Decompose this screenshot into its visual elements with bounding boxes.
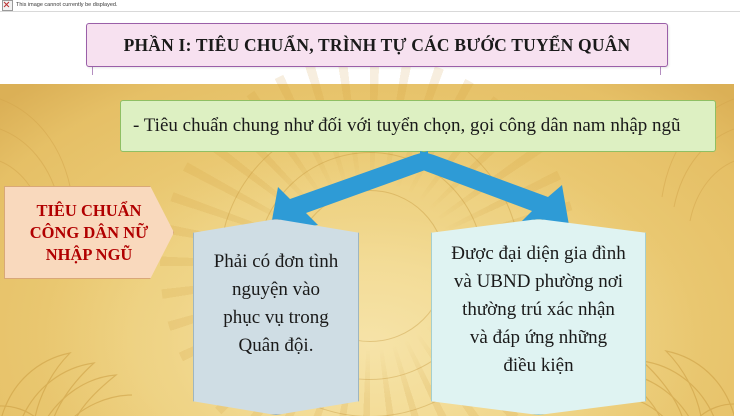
criteria-box-middle-line-2: nguyện vào (232, 276, 320, 304)
criteria-box-right-line-4: và đáp ứng những (470, 324, 607, 352)
broken-image-icon (2, 0, 13, 11)
criteria-box-family-confirmation: Được đại diện gia đình và UBND phường nơ… (431, 219, 646, 415)
criteria-box-right-line-2: và UBND phường nơi (454, 268, 623, 296)
criteria-box-right-line-5: điều kiện (503, 352, 573, 380)
criteria-box-right-line-3: thường trú xác nhận (462, 296, 615, 324)
criteria-box-middle-line-4: Quân đội. (239, 332, 314, 360)
slide-title-text: PHẦN I: TIÊU CHUẨN, TRÌNH TỰ CÁC BƯỚC TU… (124, 35, 631, 56)
broken-image-notice-text: This image cannot currently be displayed… (16, 1, 118, 10)
slide-title-box: PHẦN I: TIÊU CHUẨN, TRÌNH TỰ CÁC BƯỚC TU… (86, 23, 668, 67)
left-criteria-line-2: CÔNG DÂN NỮ (30, 222, 149, 244)
general-standard-banner-text: - Tiêu chuẩn chung như đối với tuyển chọ… (133, 115, 681, 137)
criteria-box-middle-line-3: phục vụ trong (223, 304, 329, 332)
left-criteria-line-1: TIÊU CHUẨN (37, 200, 142, 222)
slide-canvas: This image cannot currently be displayed… (0, 0, 740, 416)
broken-image-notice-bar: This image cannot currently be displayed… (0, 0, 740, 12)
general-standard-banner: - Tiêu chuẩn chung như đối với tuyển chọ… (120, 100, 716, 152)
slide-right-edge-margin (734, 11, 740, 416)
left-criteria-label: TIÊU CHUẨN CÔNG DÂN NỮ NHẬP NGŨ (4, 186, 174, 279)
arrow-to-right-box (420, 151, 580, 231)
criteria-box-middle-line-1: Phải có đơn tình (214, 248, 339, 276)
slide-content: PHẦN I: TIÊU CHUẨN, TRÌNH TỰ CÁC BƯỚC TU… (0, 11, 740, 416)
arrow-to-middle-box (262, 151, 428, 231)
left-criteria-line-3: NHẬP NGŨ (46, 244, 133, 266)
criteria-box-volunteer-application: Phải có đơn tình nguyện vào phục vụ tron… (193, 219, 359, 415)
criteria-box-right-line-1: Được đại diện gia đình (451, 240, 625, 268)
